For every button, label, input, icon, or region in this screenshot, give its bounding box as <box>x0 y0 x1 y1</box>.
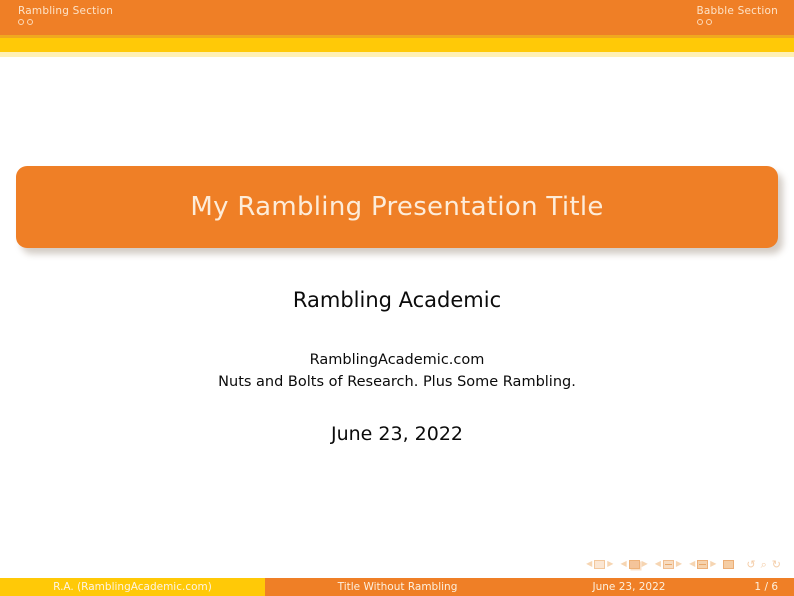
section-icon[interactable] <box>697 560 708 569</box>
search-icon[interactable]: ⌕ <box>761 559 767 570</box>
slide-marker-dot[interactable] <box>27 19 33 25</box>
beamer-navigation-symbols: ◀ ▶ ◀ ▶ ◀ ▶ ◀ ▶ ↺ ⌕ ↻ <box>586 557 782 571</box>
slide-icon[interactable] <box>594 560 605 569</box>
header-section-label-right: Babble Section <box>697 6 779 17</box>
header-slide-markers-left <box>18 19 113 25</box>
next-subsection-arrow-icon[interactable]: ▶ <box>676 560 682 568</box>
subsection-navigation-group: ◀ ▶ <box>655 560 682 569</box>
subsection-icon[interactable] <box>663 560 674 569</box>
presentation-date: June 23, 2022 <box>0 423 794 445</box>
footer-author: R.A. (RamblingAcademic.com) <box>0 578 265 596</box>
institute-line-2: Nuts and Bolts of Research. Plus Some Ra… <box>0 372 794 394</box>
header-slide-markers-right <box>697 19 712 25</box>
previous-slide-arrow-icon[interactable]: ◀ <box>586 560 592 568</box>
previous-section-arrow-icon[interactable]: ◀ <box>689 560 695 568</box>
header-section-rambling[interactable]: Rambling Section <box>18 6 113 25</box>
slide-marker-dot[interactable] <box>706 19 712 25</box>
header-yellow-band <box>0 38 794 52</box>
footer-short-title: Title Without Rambling <box>265 578 530 596</box>
header-band-fade <box>0 52 794 57</box>
previous-subsection-arrow-icon[interactable]: ◀ <box>655 560 661 568</box>
forward-icon[interactable]: ↻ <box>772 559 781 570</box>
title-block: My Rambling Presentation Title <box>16 166 778 248</box>
presentation-slide: Rambling Section Babble Section My Rambl… <box>0 0 794 596</box>
page-title: My Rambling Presentation Title <box>190 192 603 222</box>
slide-marker-dot[interactable] <box>697 19 703 25</box>
slide-marker-dot[interactable] <box>18 19 24 25</box>
header-section-label-left: Rambling Section <box>18 6 113 17</box>
presentation-icon[interactable] <box>723 560 734 569</box>
slide-navigation-group: ◀ ▶ <box>586 560 613 569</box>
next-frame-arrow-icon[interactable]: ▶ <box>642 560 648 568</box>
footer-bar: R.A. (RamblingAcademic.com) Title Withou… <box>0 578 794 596</box>
frame-icon[interactable] <box>629 560 640 569</box>
header-section-babble[interactable]: Babble Section <box>697 6 779 25</box>
section-navigation-group: ◀ ▶ <box>689 560 716 569</box>
next-slide-arrow-icon[interactable]: ▶ <box>607 560 613 568</box>
author-name: Rambling Academic <box>0 288 794 312</box>
frame-navigation-group: ◀ ▶ <box>620 560 647 569</box>
footer-date: June 23, 2022 <box>530 578 728 596</box>
institute-block: RamblingAcademic.com Nuts and Bolts of R… <box>0 350 794 394</box>
back-icon[interactable]: ↺ <box>746 559 755 570</box>
next-section-arrow-icon[interactable]: ▶ <box>710 560 716 568</box>
header-navigation-bar: Rambling Section Babble Section <box>0 0 794 35</box>
previous-frame-arrow-icon[interactable]: ◀ <box>620 560 626 568</box>
footer-page-number: 1 / 6 <box>728 578 794 596</box>
institute-line-1: RamblingAcademic.com <box>0 350 794 372</box>
